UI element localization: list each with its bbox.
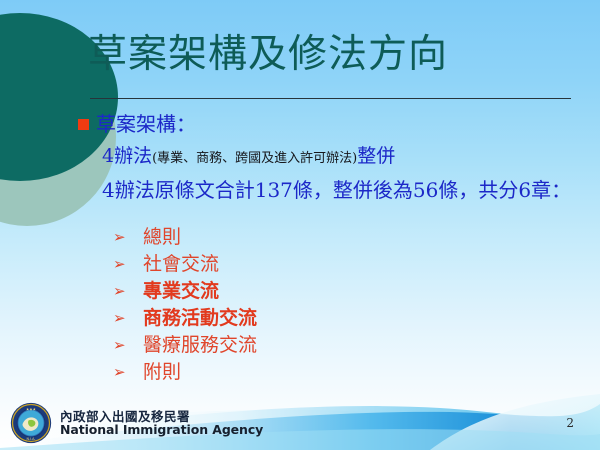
list-item-label: 總則	[143, 228, 181, 247]
list-item: ➢社會交流	[113, 251, 513, 277]
body-line-2: 4辦法原條文合計137條，整併後為56條，共分6章：	[102, 174, 588, 203]
list-item-label: 醫療服務交流	[143, 336, 257, 355]
body-block: 草案架構： 4辦法(專業、商務、跨國及進入許可辦法)整併 4辦法原條文合計137…	[78, 112, 588, 203]
body-heading: 草案架構：	[96, 112, 196, 136]
body-line-1: 4辦法(專業、商務、跨國及進入許可辦法)整併	[102, 141, 588, 168]
square-bullet-icon	[78, 119, 89, 130]
heading-row: 草案架構：	[78, 112, 588, 136]
agency-name-en: National Immigration Agency	[60, 423, 263, 437]
list-item-label: 商務活動交流	[143, 309, 257, 328]
list-item-label: 專業交流	[143, 282, 219, 301]
list-item: ➢總則	[113, 224, 513, 250]
agency-name-zh: 內政部入出國及移民署	[60, 410, 263, 424]
slide-title: 草案架構及修法方向	[88, 33, 448, 77]
title-underline-rule	[90, 98, 571, 99]
arrow-marker-icon: ➢	[113, 284, 143, 299]
list-item: ➢專業交流	[113, 278, 513, 304]
slide-canvas: 草案架構及修法方向 草案架構： 4辦法(專業、商務、跨國及進入許可辦法)整併 4…	[0, 0, 600, 450]
agency-name-block: 內政部入出國及移民署 National Immigration Agency	[60, 410, 263, 437]
list-item: ➢商務活動交流	[113, 305, 513, 331]
body-line-1-before: 4辦法	[102, 145, 152, 167]
page-number: 2	[566, 416, 574, 430]
list-item-label: 社會交流	[143, 255, 219, 274]
svg-text:★★★: ★★★	[26, 406, 37, 411]
body-line-1-paren: (專業、商務、跨國及進入許可辦法)	[152, 151, 357, 166]
body-line-1-after: 整併	[357, 145, 395, 167]
arrow-marker-icon: ➢	[113, 338, 143, 353]
arrow-marker-icon: ➢	[113, 230, 143, 245]
chapter-list: ➢總則➢社會交流➢專業交流➢商務活動交流➢醫療服務交流➢附則	[113, 224, 513, 386]
arrow-marker-icon: ➢	[113, 257, 143, 272]
list-item: ➢醫療服務交流	[113, 332, 513, 358]
footer-branding: ★★★ N.I.A. 內政部入出國及移民署 National Immigrati…	[10, 402, 263, 444]
agency-emblem-icon: ★★★ N.I.A.	[10, 402, 52, 444]
svg-text:N.I.A.: N.I.A.	[27, 437, 36, 441]
arrow-marker-icon: ➢	[113, 311, 143, 326]
